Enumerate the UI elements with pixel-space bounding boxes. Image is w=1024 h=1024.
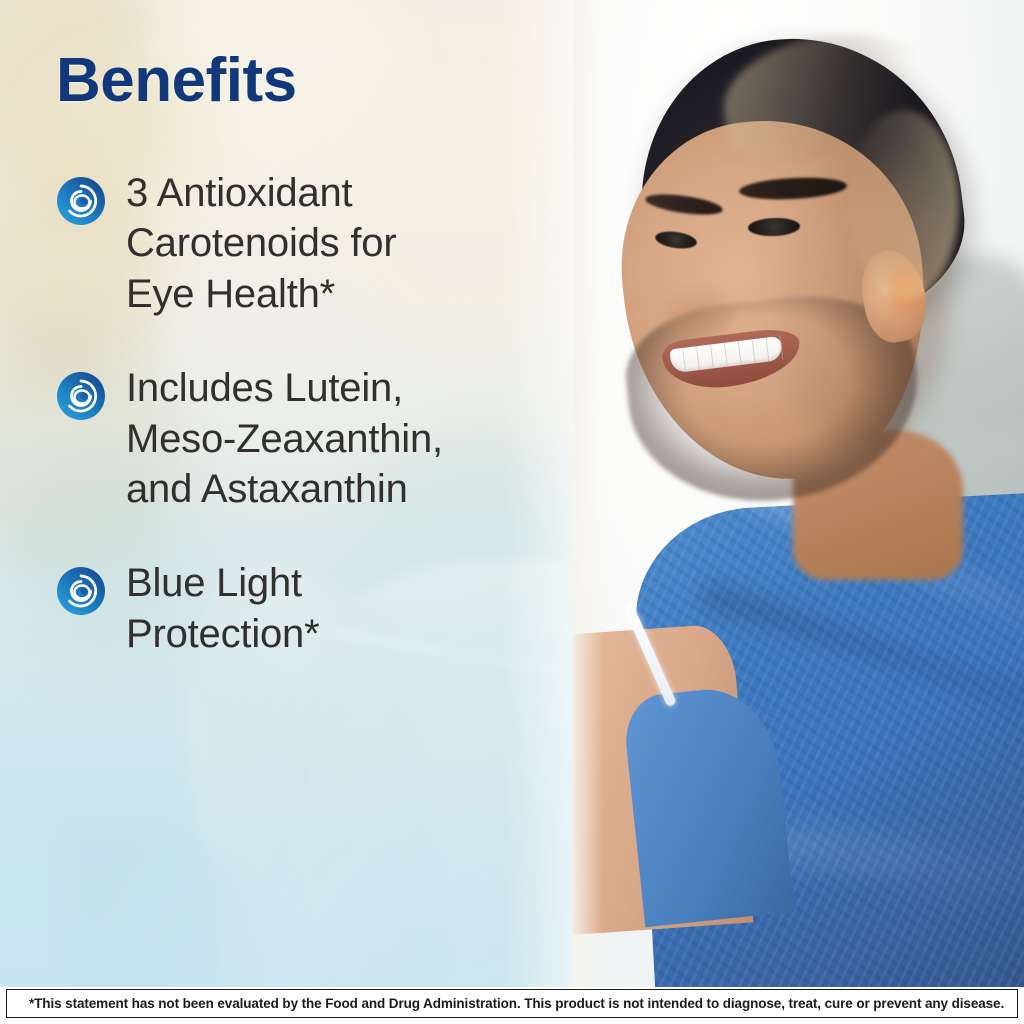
ghost-shadow-wedge: [70, 830, 270, 987]
page-title: Benefits: [56, 45, 297, 116]
list-item: Includes Lutein, Meso-Zeaxanthin, and As…: [56, 363, 556, 514]
benefit-text: Includes Lutein, Meso-Zeaxanthin, and As…: [126, 363, 443, 514]
hair-rim-light: [849, 110, 959, 300]
ghost-knuckles: [206, 686, 336, 806]
disclaimer-text: *This statement has not been evaluated b…: [7, 996, 1004, 1011]
lifestyle-photo: [573, 0, 1024, 987]
benefits-list: 3 Antioxidant Carotenoids for Eye Health…: [56, 168, 556, 659]
list-item: Blue Light Protection*: [56, 558, 556, 659]
eye-spiral-icon: [56, 371, 106, 421]
benefit-text: 3 Antioxidant Carotenoids for Eye Health…: [126, 168, 396, 319]
eye-spiral-icon: [56, 566, 106, 616]
benefits-panel: Benefits: [0, 0, 573, 987]
photo-edge-fade: [573, 0, 603, 987]
eye-spiral-icon: [56, 176, 106, 226]
product-benefits-image: Benefits: [0, 0, 1024, 1024]
bottom-margin: [0, 1018, 1024, 1024]
list-item: 3 Antioxidant Carotenoids for Eye Health…: [56, 168, 556, 319]
disclaimer-bar: *This statement has not been evaluated b…: [6, 989, 1018, 1018]
teeth: [669, 336, 783, 373]
benefit-text: Blue Light Protection*: [126, 558, 319, 659]
